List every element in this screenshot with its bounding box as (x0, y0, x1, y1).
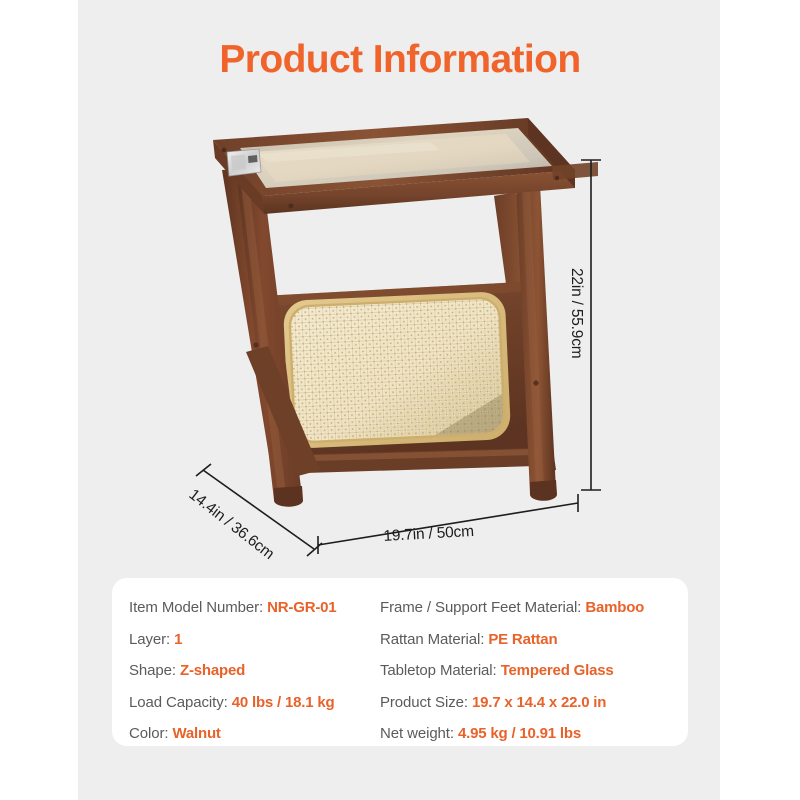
spec-value: Walnut (173, 725, 221, 742)
spec-label: Color: (129, 725, 168, 742)
spec-column-left: Item Model Number: NR-GR-01 Layer: 1 Sha… (112, 592, 376, 746)
spec-row: Item Model Number: NR-GR-01 (129, 592, 376, 624)
product-label-sticker (227, 149, 261, 176)
product-information-page: Product Information (0, 0, 800, 800)
spec-label: Tabletop Material: (380, 662, 497, 679)
spec-label: Layer: (129, 631, 170, 648)
spec-value: NR-GR-01 (267, 599, 336, 616)
spec-value: PE Rattan (488, 631, 557, 648)
spec-value: 19.7 x 14.4 x 22.0 in (472, 694, 606, 711)
spec-row: Load Capacity: 40 lbs / 18.1 kg (129, 687, 376, 719)
spec-label: Item Model Number: (129, 599, 263, 616)
dimension-label-height: 22in / 55.9cm (567, 268, 585, 358)
rattan-weave (283, 291, 511, 449)
spec-value: Bamboo (585, 599, 644, 616)
specification-card: Item Model Number: NR-GR-01 Layer: 1 Sha… (112, 578, 688, 746)
spec-label: Load Capacity: (129, 694, 228, 711)
spec-row: Layer: 1 (129, 624, 376, 656)
spec-value: 4.95 kg / 10.91 lbs (458, 725, 581, 742)
spec-label: Rattan Material: (380, 631, 484, 648)
spec-label: Frame / Support Feet Material: (380, 599, 581, 616)
spec-row: Rattan Material: PE Rattan (380, 624, 688, 656)
spec-label: Product Size: (380, 694, 468, 711)
spec-value: Tempered Glass (501, 662, 614, 679)
spec-row: Product Size: 19.7 x 14.4 x 22.0 in (380, 687, 688, 719)
spec-value: Z-shaped (180, 662, 245, 679)
spec-label: Shape: (129, 662, 176, 679)
spec-row: Net weight: 4.95 kg / 10.91 lbs (380, 718, 688, 750)
spec-row: Color: Walnut (129, 718, 376, 750)
spec-value: 1 (174, 631, 182, 648)
spec-value: 40 lbs / 18.1 kg (232, 694, 335, 711)
spec-row: Shape: Z-shaped (129, 655, 376, 687)
spec-column-right: Frame / Support Feet Material: Bamboo Ra… (376, 592, 688, 746)
spec-label: Net weight: (380, 725, 454, 742)
spec-row: Frame / Support Feet Material: Bamboo (380, 592, 688, 624)
foot-caps (274, 480, 557, 507)
spec-row: Tabletop Material: Tempered Glass (380, 655, 688, 687)
